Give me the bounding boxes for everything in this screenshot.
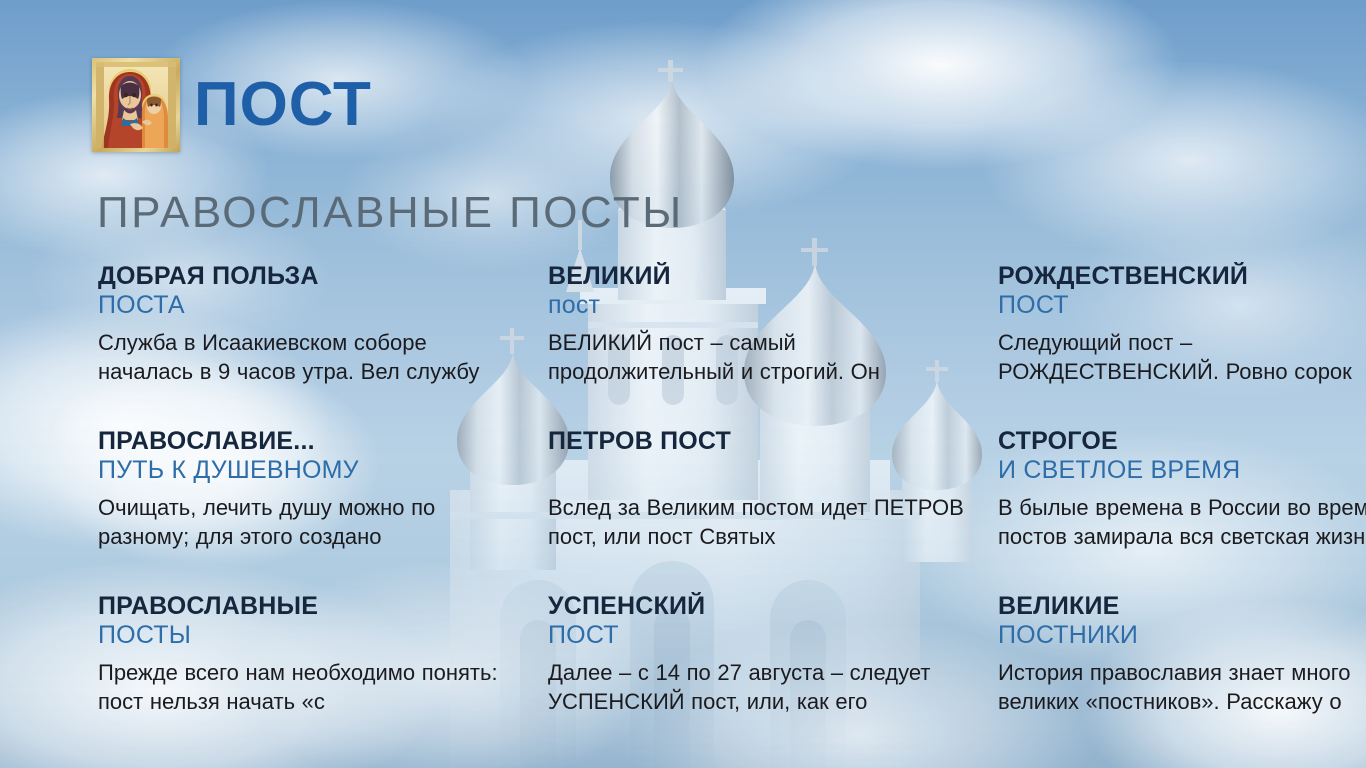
article-title: ВЕЛИКИЙ <box>548 262 998 290</box>
article-title: ДОБРАЯ ПОЛЬЗА <box>98 262 548 290</box>
page-root: ПОСТ ПРАВОСЛАВНЫЕ ПОСТЫ ДОБРАЯ ПОЛЬЗА ПО… <box>0 0 1366 768</box>
article-body: Далее – с 14 по 27 августа – следует УСП… <box>548 658 978 717</box>
article-card[interactable]: ПРАВОСЛАВНЫЕ ПОСТЫ Прежде всего нам необ… <box>98 592 548 757</box>
article-title: СТРОГОЕ <box>998 427 1366 455</box>
article-body: Прежде всего нам необходимо понять: пост… <box>98 658 528 717</box>
article-subtitle: И СВЕТЛОЕ ВРЕМЯ <box>998 455 1366 485</box>
article-card[interactable]: ВЕЛИКИЙ пост ВЕЛИКИЙ пост – самый продол… <box>548 262 998 427</box>
article-title: ПРАВОСЛАВИЕ... <box>98 427 548 455</box>
article-card[interactable]: ПЕТРОВ ПОСТ Вслед за Великим постом идет… <box>548 427 998 592</box>
brand-header: ПОСТ <box>92 58 372 152</box>
article-body: Очищать, лечить душу можно по разному; д… <box>98 493 528 552</box>
article-subtitle: ПОСТНИКИ <box>998 620 1366 650</box>
article-grid: ДОБРАЯ ПОЛЬЗА ПОСТА Служба в Исаакиевско… <box>98 262 1366 757</box>
article-subtitle: ПОСТ <box>548 620 998 650</box>
article-card[interactable]: ДОБРАЯ ПОЛЬЗА ПОСТА Служба в Исаакиевско… <box>98 262 548 427</box>
article-title: ПЕТРОВ ПОСТ <box>548 427 998 455</box>
article-title: УСПЕНСКИЙ <box>548 592 998 620</box>
article-subtitle: ПОСТЫ <box>98 620 548 650</box>
article-subtitle: ПОСТА <box>98 290 548 320</box>
article-title: ВЕЛИКИЕ <box>998 592 1366 620</box>
brand-title: ПОСТ <box>194 74 372 136</box>
article-card[interactable]: УСПЕНСКИЙ ПОСТ Далее – с 14 по 27 август… <box>548 592 998 757</box>
article-subtitle <box>548 455 998 485</box>
article-column-1: ДОБРАЯ ПОЛЬЗА ПОСТА Служба в Исаакиевско… <box>98 262 548 757</box>
article-title: РОЖДЕСТВЕНСКИЙ <box>998 262 1366 290</box>
article-column-3: РОЖДЕСТВЕНСКИЙ ПОСТ Следующий пост – РОЖ… <box>998 262 1366 757</box>
article-body: ВЕЛИКИЙ пост – самый продолжительный и с… <box>548 328 978 387</box>
article-card[interactable]: РОЖДЕСТВЕНСКИЙ ПОСТ Следующий пост – РОЖ… <box>998 262 1366 427</box>
article-column-2: ВЕЛИКИЙ пост ВЕЛИКИЙ пост – самый продол… <box>548 262 998 757</box>
article-card[interactable]: ВЕЛИКИЕ ПОСТНИКИ История православия зна… <box>998 592 1366 757</box>
article-title: ПРАВОСЛАВНЫЕ <box>98 592 548 620</box>
article-body: Следующий пост – РОЖДЕСТВЕНСКИЙ. Ровно с… <box>998 328 1366 387</box>
page-title: ПРАВОСЛАВНЫЕ ПОСТЫ <box>97 190 684 236</box>
article-body: В былые времена в России во время постов… <box>998 493 1366 552</box>
article-subtitle: ПОСТ <box>998 290 1366 320</box>
orthodox-icon-kazan-icon <box>92 58 180 152</box>
article-card[interactable]: СТРОГОЕ И СВЕТЛОЕ ВРЕМЯ В былые времена … <box>998 427 1366 592</box>
article-card[interactable]: ПРАВОСЛАВИЕ... ПУТЬ К ДУШЕВНОМУ Очищать,… <box>98 427 548 592</box>
article-body: Вслед за Великим постом идет ПЕТРОВ пост… <box>548 493 978 552</box>
article-body: История православия знает много великих … <box>998 658 1366 717</box>
article-subtitle: пост <box>548 290 998 320</box>
article-body: Служба в Исаакиевском соборе началась в … <box>98 328 528 387</box>
article-subtitle: ПУТЬ К ДУШЕВНОМУ <box>98 455 548 485</box>
